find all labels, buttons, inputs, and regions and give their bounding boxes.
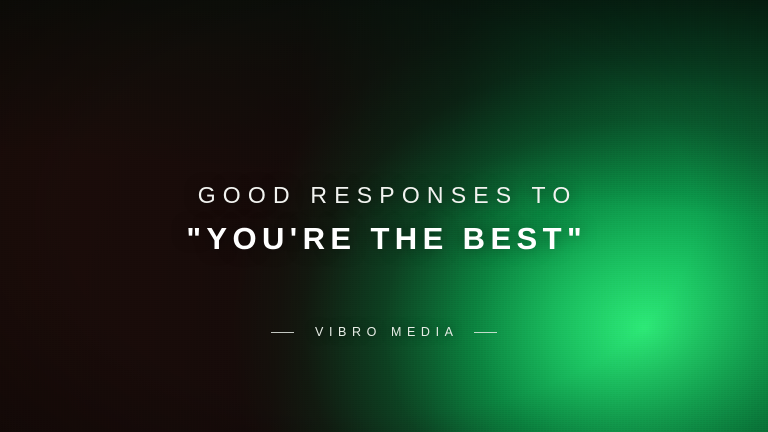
- card-content: GOOD RESPONSES TO "YOU'RE THE BEST" VIBR…: [0, 0, 768, 432]
- byline: VIBRO MEDIA: [271, 326, 496, 339]
- headline-block: GOOD RESPONSES TO "YOU'RE THE BEST": [0, 184, 768, 254]
- headline-line-1: GOOD RESPONSES TO: [0, 184, 768, 207]
- dash-rule-left-icon: [271, 332, 294, 333]
- dash-rule-right-icon: [474, 332, 497, 333]
- title-card: GOOD RESPONSES TO "YOU'RE THE BEST" VIBR…: [0, 0, 768, 432]
- headline-line-2: "YOU'RE THE BEST": [0, 223, 768, 254]
- byline-brand-label: VIBRO MEDIA: [309, 326, 458, 339]
